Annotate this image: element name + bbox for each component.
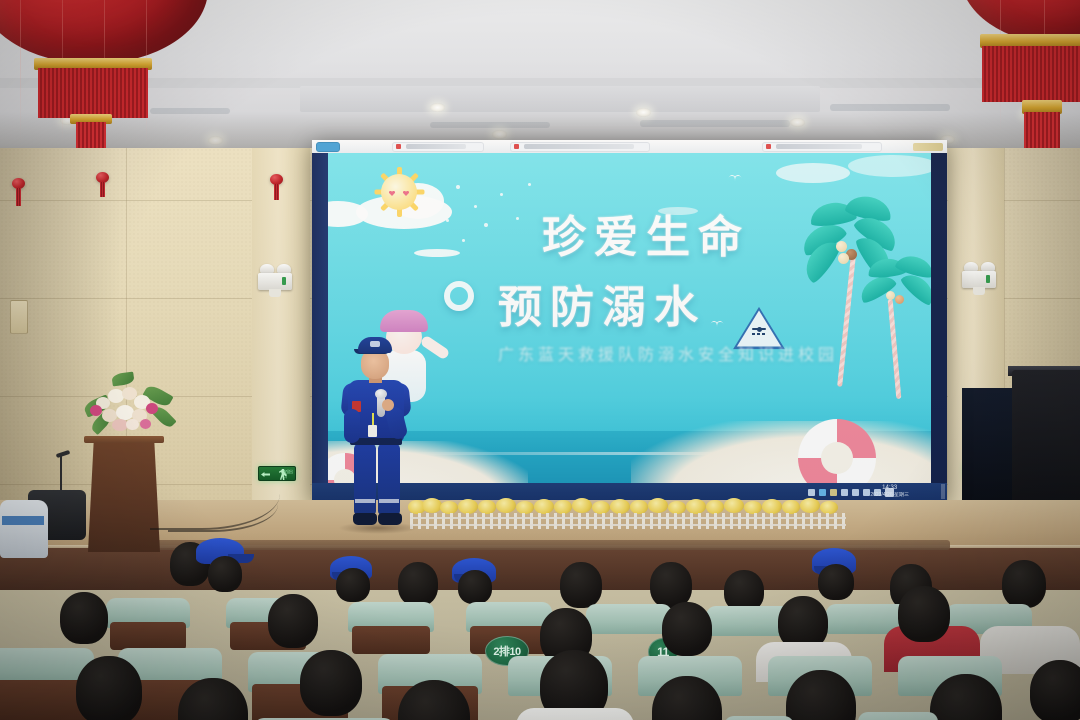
network-icon[interactable] xyxy=(808,489,815,496)
student-head xyxy=(268,594,318,648)
student-head xyxy=(300,650,362,716)
cloud-icon[interactable] xyxy=(841,489,848,496)
student-head xyxy=(560,562,602,608)
browser-window-buttons[interactable] xyxy=(913,143,943,151)
presenter xyxy=(330,337,422,533)
cloud-6 xyxy=(848,155,931,177)
student-head xyxy=(336,568,370,602)
seagull-icon-2 xyxy=(710,321,724,327)
flower-bouquet xyxy=(82,375,174,445)
life-ring-icon xyxy=(798,419,876,493)
student-head xyxy=(898,586,950,642)
student-shoulders xyxy=(516,708,634,720)
taskbar-time: 14:33 xyxy=(870,485,909,492)
student-head xyxy=(208,556,242,592)
student-head xyxy=(76,656,142,720)
taskbar-clock[interactable]: 14:33 2023/4/26 星期三 xyxy=(870,485,909,499)
wall-lantern-tassel-3 xyxy=(274,184,279,200)
stage-fence-rail-2 xyxy=(410,524,846,526)
slide-title-line2: 预防溺水 xyxy=(498,271,706,335)
slide-left-band xyxy=(312,153,328,500)
student-head xyxy=(1030,660,1080,720)
seat-wood-panel xyxy=(352,626,430,654)
cartoon-sun-icon xyxy=(376,169,422,215)
piano xyxy=(1012,370,1080,505)
cloud-5 xyxy=(776,163,850,183)
slide-subtitle: 广东蓝天救援队防溺水安全知识进校园 xyxy=(458,341,878,365)
cloud-4 xyxy=(414,249,460,257)
student-head xyxy=(818,564,854,600)
audience-area: 2排10 11 1 3 xyxy=(0,530,1080,720)
battery-icon[interactable] xyxy=(819,489,826,496)
red-lantern-left xyxy=(0,0,208,144)
volume-icon[interactable] xyxy=(852,489,859,496)
presenter-id-tag xyxy=(368,425,377,437)
show-desktop-button[interactable] xyxy=(941,484,945,499)
chinese-input-icon[interactable] xyxy=(863,489,870,496)
student-head xyxy=(458,570,492,604)
seat[interactable] xyxy=(586,604,672,634)
seat-wood-panel xyxy=(110,622,186,650)
auditorium-photo: 安全出口 安全出口 xyxy=(0,0,1080,720)
seat[interactable] xyxy=(858,712,938,720)
red-lantern-right xyxy=(960,0,1080,134)
browser-tabstrip[interactable] xyxy=(312,140,947,153)
wall-speaker-left xyxy=(10,300,28,334)
wall-lantern-tassel-2 xyxy=(100,182,105,197)
side-doorway xyxy=(962,388,1014,508)
stage-picket-fence xyxy=(410,513,846,529)
seagull-icon-1 xyxy=(728,175,742,181)
white-sack-band xyxy=(2,516,44,525)
exit-sign-left-label: 安全出口 xyxy=(283,469,293,479)
stage-fence-rail xyxy=(410,517,846,519)
slide-title-line1: 珍爱生命 xyxy=(542,201,750,265)
input-method-icon[interactable] xyxy=(830,489,837,496)
wall-lantern-tassel-1 xyxy=(16,188,21,206)
student-head xyxy=(60,592,108,644)
student-head xyxy=(398,562,438,606)
slide-decorative-ring xyxy=(444,281,474,311)
palm-tree-small xyxy=(852,251,931,411)
browser-chrome xyxy=(312,140,947,153)
taskbar-date: 2023/4/26 星期三 xyxy=(870,492,909,499)
seat[interactable] xyxy=(724,716,794,720)
student-head xyxy=(1002,560,1046,608)
student-head xyxy=(662,602,712,656)
